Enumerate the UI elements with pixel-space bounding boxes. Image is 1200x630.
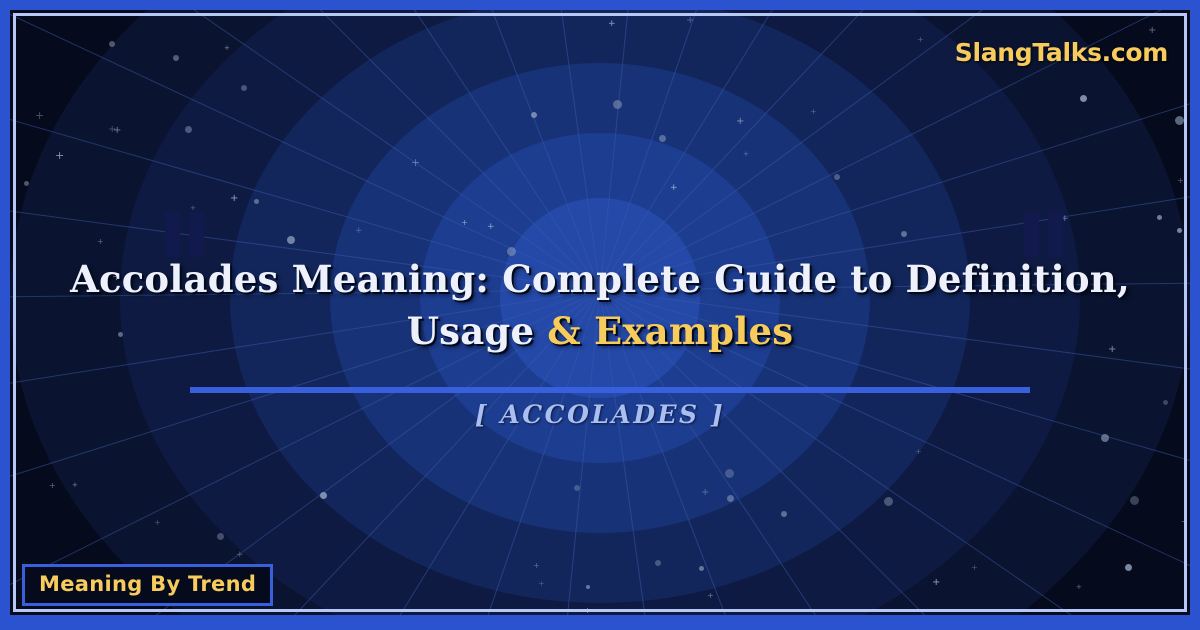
hero-content: Accolades Meaning: Complete Guide to Def…	[10, 10, 1190, 615]
page-title: Accolades Meaning: Complete Guide to Def…	[40, 253, 1160, 357]
hero-background: ++++++++++++++++++++++++++++++++++++++ A…	[10, 10, 1190, 615]
keyword-subtitle: [ ACCOLADES ]	[10, 400, 1190, 429]
brand-wordmark[interactable]: SlangTalks.com	[955, 38, 1168, 67]
page-title-accent: & Examples	[547, 309, 793, 353]
status-badge[interactable]: Meaning By Trend	[22, 564, 273, 606]
title-divider	[190, 387, 1030, 393]
poster-canvas: ++++++++++++++++++++++++++++++++++++++ A…	[0, 0, 1200, 630]
